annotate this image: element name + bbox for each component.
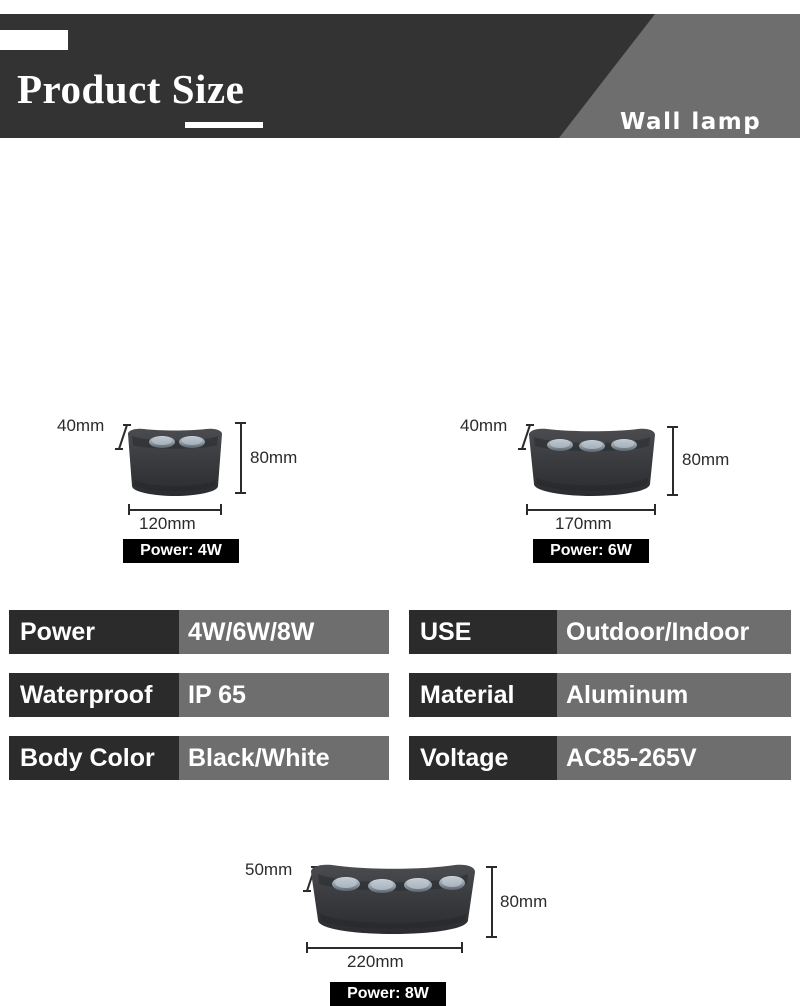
spec-value-voltage: AC85-265V xyxy=(557,736,791,780)
height-dimension-6w xyxy=(667,426,678,496)
spec-value-material: Aluminum xyxy=(557,673,791,717)
spec-row-use: USE Outdoor/Indoor xyxy=(409,610,791,654)
height-label-8w: 80mm xyxy=(500,892,547,912)
spec-key-body-color: Body Color xyxy=(9,736,179,780)
width-label-8w: 220mm xyxy=(347,952,404,972)
spec-key-power: Power xyxy=(9,610,179,654)
depth-label-8w: 50mm xyxy=(245,860,292,880)
power-badge-8w: Power: 8W xyxy=(330,982,446,1006)
lamp-image-8w xyxy=(308,864,478,936)
spec-row-voltage: Voltage AC85-265V xyxy=(409,736,791,780)
page-header: Product Size Wall lamp xyxy=(0,14,800,138)
spec-row-power: Power 4W/6W/8W xyxy=(9,610,389,654)
spec-row-waterproof: Waterproof IP 65 xyxy=(9,673,389,717)
spec-value-power: 4W/6W/8W xyxy=(179,610,389,654)
product-figure-6w: 40mm xyxy=(400,200,800,375)
height-label-6w: 80mm xyxy=(682,450,729,470)
product-figure-8w: 50mm xyxy=(190,420,610,600)
spec-key-use: USE xyxy=(409,610,557,654)
width-label-4w: 120mm xyxy=(139,514,196,534)
spec-value-waterproof: IP 65 xyxy=(179,673,389,717)
product-category-badge: Wall lamp xyxy=(620,109,761,135)
title-underline xyxy=(185,122,263,128)
height-dimension-8w xyxy=(486,866,497,938)
spec-key-waterproof: Waterproof xyxy=(9,673,179,717)
spec-row-body-color: Body Color Black/White xyxy=(9,736,389,780)
spec-key-voltage: Voltage xyxy=(409,736,557,780)
product-figure-4w: 40mm xyxy=(0,200,330,375)
spec-value-use: Outdoor/Indoor xyxy=(557,610,791,654)
spec-row-material: Material Aluminum xyxy=(409,673,791,717)
spec-key-material: Material xyxy=(409,673,557,717)
spec-value-body-color: Black/White xyxy=(179,736,389,780)
depth-label-4w: 40mm xyxy=(57,416,104,436)
header-white-tab xyxy=(0,30,68,50)
page-title: Product Size xyxy=(17,69,244,110)
